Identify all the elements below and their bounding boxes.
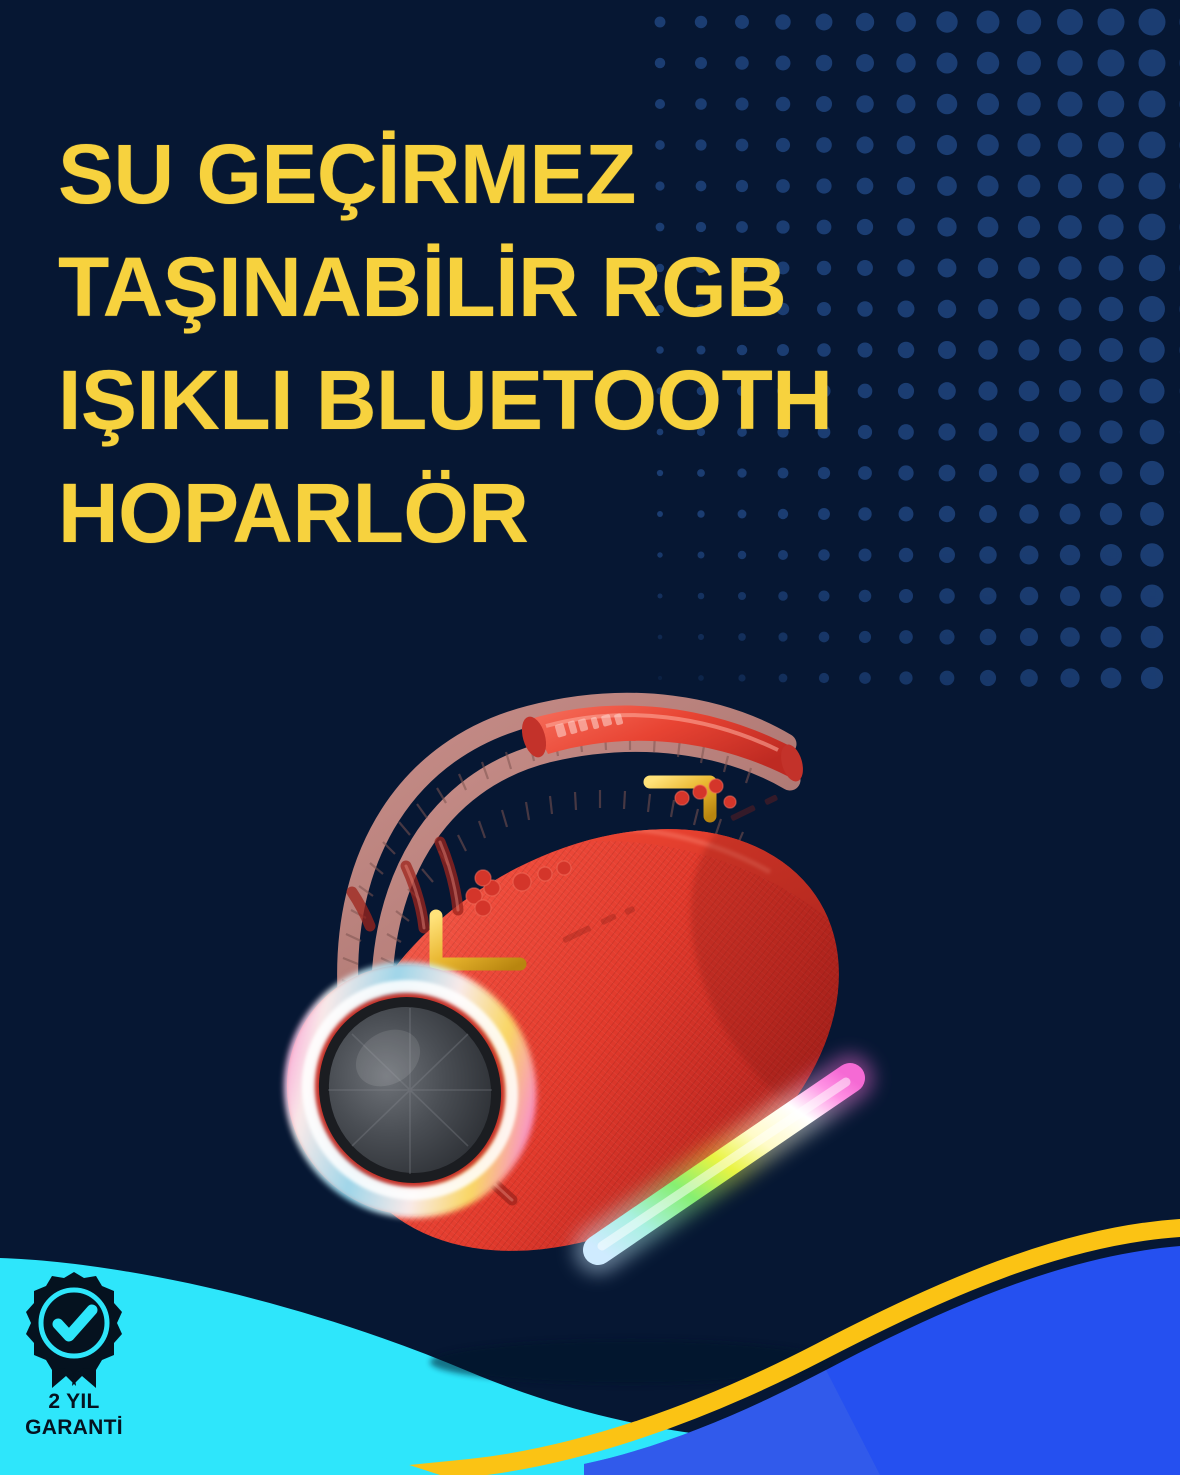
- badge-line-2: GARANTİ: [8, 1415, 140, 1440]
- badge-line-1: 2 YIL: [8, 1389, 140, 1414]
- headline-line-3: IŞIKLI BLUETOOTH: [58, 344, 898, 457]
- headline-block: SU GEÇİRMEZ TAŞINABİLİR RGB IŞIKLI BLUET…: [58, 118, 898, 570]
- headline-line-1: SU GEÇİRMEZ: [58, 118, 898, 231]
- product-advertisement-poster: SU GEÇİRMEZ TAŞINABİLİR RGB IŞIKLI BLUET…: [0, 0, 1180, 1475]
- verified-seal-check-icon: [22, 1270, 126, 1388]
- warranty-badge: 2 YIL GARANTİ: [8, 1270, 140, 1470]
- headline-line-4: HOPARLÖR: [58, 457, 898, 570]
- headline-line-2: TAŞINABİLİR RGB: [58, 231, 898, 344]
- product-speaker-image: [230, 620, 950, 1410]
